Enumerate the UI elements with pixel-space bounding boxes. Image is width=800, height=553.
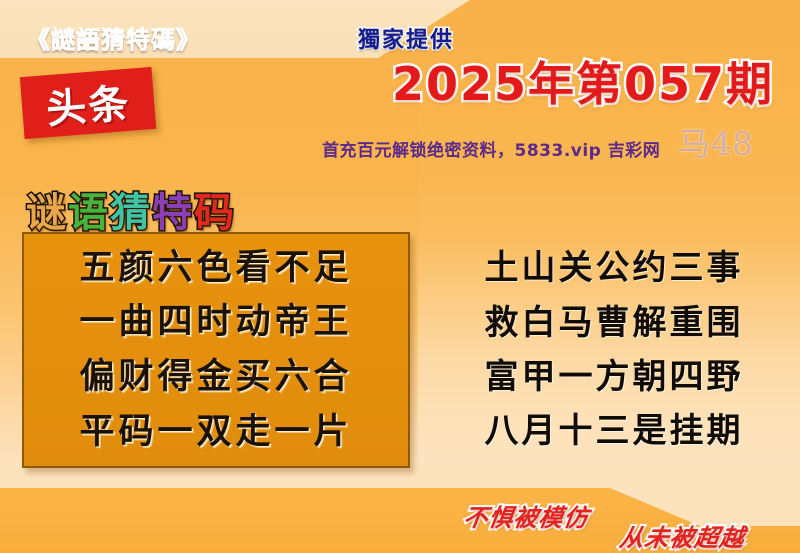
riddle-line: 平码一双走一片 (38, 405, 394, 460)
footer-slogan-left: 不惧被模仿 (462, 498, 592, 533)
headline-badge: 头条 (20, 67, 156, 139)
section-title-char-5: 码 (194, 180, 236, 238)
headline-badge-label: 头条 (44, 71, 132, 135)
section-title-char-1: 谜 (26, 180, 68, 238)
answer-poem-line: 救白马曹解重围 (440, 296, 788, 350)
section-title-char-2: 语 (68, 180, 110, 238)
traditional-title: 《謎語猜特碼》 (26, 20, 201, 55)
riddle-box: 五颜六色看不足 一曲四时动帝王 偏财得金买六合 平码一双走一片 (22, 232, 410, 468)
section-title-char-4: 特 (152, 180, 194, 238)
issue-number-title: 2025年第057期 (392, 48, 774, 114)
answer-poem-line: 土山关公约三事 (440, 241, 788, 295)
section-title: 谜语猜特码 (26, 180, 236, 238)
promo-text: 首充百元解锁绝密资料，5833.vip 吉彩网 (322, 136, 660, 161)
riddle-line: 五颜六色看不足 (38, 241, 394, 296)
watermark-text: 马48 (678, 119, 754, 165)
section-title-char-3: 猜 (110, 180, 152, 238)
riddle-line: 偏财得金买六合 (38, 350, 394, 405)
riddle-line: 一曲四时动帝王 (38, 295, 394, 350)
answer-poem-line: 八月十三是挂期 (440, 404, 788, 458)
answer-poem-line: 富甲一方朝四野 (440, 350, 788, 404)
footer-slogan-right: 从未被超越 (618, 518, 748, 553)
answer-poem: 土山关公约三事 救白马曹解重围 富甲一方朝四野 八月十三是挂期 (440, 236, 788, 464)
poster-root: 《謎語猜特碼》 头条 獨家提供 2025年第057期 首充百元解锁绝密资料，58… (0, 0, 800, 553)
